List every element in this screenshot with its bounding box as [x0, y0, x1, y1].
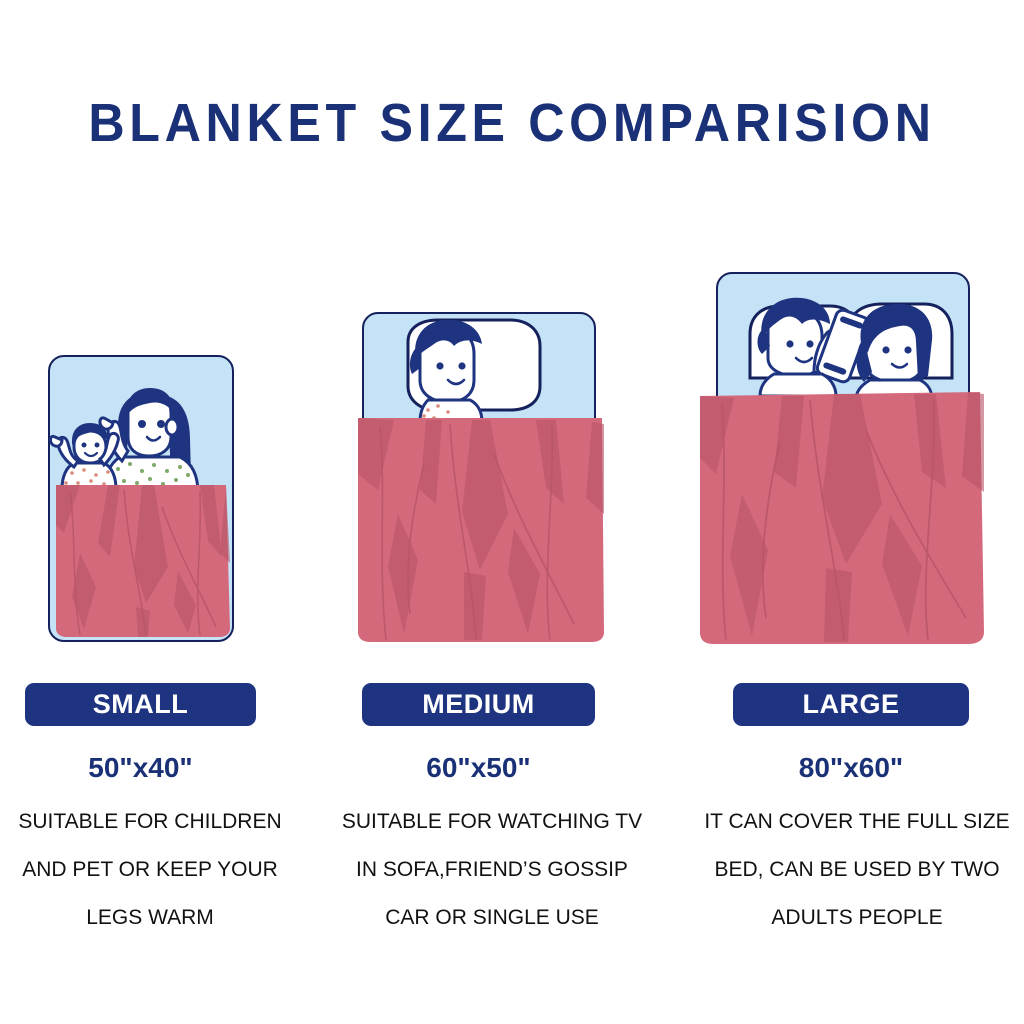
person-eye-right [458, 362, 465, 369]
dimensions-small: 50"x40" [25, 752, 256, 784]
description-small-line-3: LEGS WARM [0, 894, 300, 942]
description-large-line-2: BED, CAN BE USED BY TWO [690, 846, 1024, 894]
description-small-line-2: AND PET OR KEEP YOUR [0, 846, 300, 894]
description-small: SUITABLE FOR CHILDREN AND PET OR KEEP YO… [0, 798, 300, 942]
illustration-medium [364, 314, 598, 644]
description-medium-line-2: IN SOFA,FRIEND’S GOSSIP [327, 846, 657, 894]
woman-eye-left-large [882, 346, 889, 353]
illustration-small [50, 357, 236, 644]
illustration-panel-medium [362, 312, 596, 642]
description-medium-line-1: SUITABLE FOR WATCHING TV [327, 798, 657, 846]
woman-eye-left [138, 420, 146, 428]
illustration-panel-large [716, 272, 970, 642]
man-eye-left [786, 340, 793, 347]
illustration-large [718, 274, 972, 644]
description-large: IT CAN COVER THE FULL SIZE BED, CAN BE U… [690, 798, 1024, 942]
man-shoulder [760, 374, 836, 396]
baby-eye-left [82, 443, 87, 448]
size-badge-medium: MEDIUM [362, 683, 595, 726]
illustration-panel-small [48, 355, 234, 642]
size-badge-medium-label: MEDIUM [422, 689, 535, 720]
description-large-line-1: IT CAN COVER THE FULL SIZE [690, 798, 1024, 846]
infographic-root: BLANKET SIZE COMPARISION [0, 0, 1024, 1024]
description-small-line-1: SUITABLE FOR CHILDREN [0, 798, 300, 846]
woman-eye-right [157, 420, 165, 428]
dimensions-medium: 60"x50" [362, 752, 595, 784]
person-eye-left [436, 362, 443, 369]
description-large-line-3: ADULTS PEOPLE [690, 894, 1024, 942]
woman-ear [166, 419, 178, 435]
size-badge-large: LARGE [733, 683, 969, 726]
description-medium-line-3: CAR OR SINGLE USE [327, 894, 657, 942]
baby-hand-left [51, 436, 62, 446]
size-badge-small-label: SMALL [93, 689, 188, 720]
description-medium: SUITABLE FOR WATCHING TV IN SOFA,FRIEND’… [327, 798, 657, 942]
man-eye-right [806, 340, 813, 347]
dimensions-large: 80"x60" [733, 752, 969, 784]
size-badge-small: SMALL [25, 683, 256, 726]
page-title: BLANKET SIZE COMPARISION [36, 92, 988, 154]
baby-eye-right [95, 443, 100, 448]
woman-eye-right-large [904, 346, 911, 353]
size-badge-large-label: LARGE [803, 689, 900, 720]
